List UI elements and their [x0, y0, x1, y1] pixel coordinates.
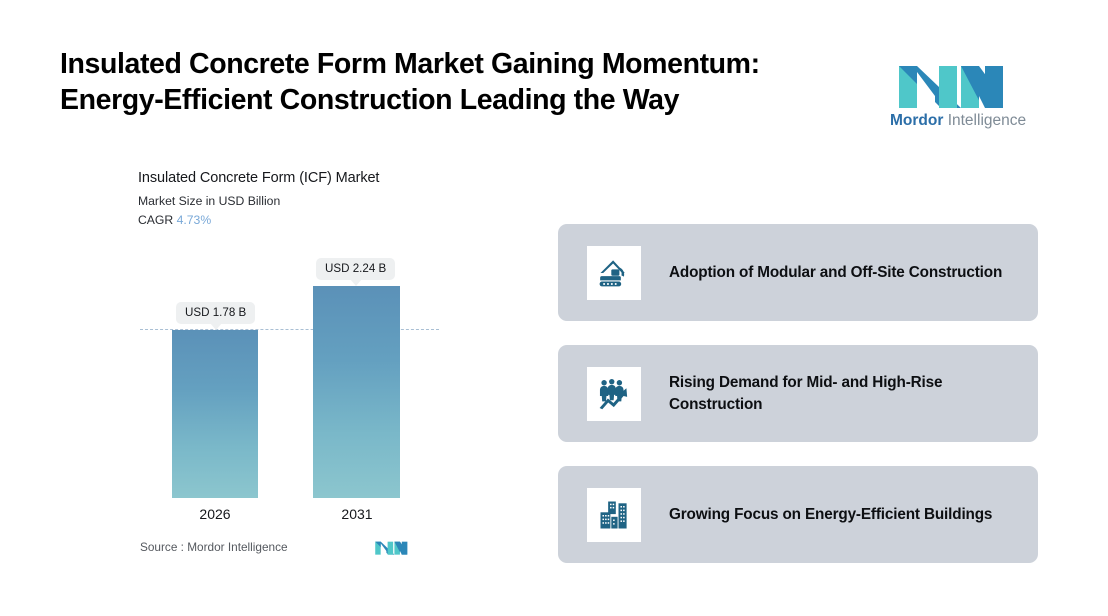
mordor-intelligence-logo-mark-small-icon [374, 536, 408, 556]
brand-logo: Mordor Intelligence [890, 52, 1020, 138]
page-title-line-2: Energy-Efficient Construction Leading th… [60, 82, 850, 118]
header: Insulated Concrete Form Market Gaining M… [0, 0, 1108, 160]
insight-card-energy-efficient-buildings[interactable]: Growing Focus on Energy-Efficient Buildi… [558, 466, 1038, 563]
insight-card-label: Adoption of Modular and Off-Site Constru… [669, 262, 1002, 284]
chart-panel: Insulated Concrete Form (ICF) Market Mar… [138, 170, 448, 560]
insight-card-label: Growing Focus on Energy-Efficient Buildi… [669, 504, 992, 526]
bar-chart-plot: USD 1.78 B USD 2.24 B 2026 2031 Source :… [138, 170, 448, 560]
insight-card-label: Rising Demand for Mid- and High-Rise Con… [669, 372, 1022, 416]
excavator-icon [587, 246, 641, 300]
insight-card-modular-construction[interactable]: Adoption of Modular and Off-Site Constru… [558, 224, 1038, 321]
page-title: Insulated Concrete Form Market Gaining M… [60, 46, 850, 118]
brand-word-primary: Mordor [890, 112, 943, 129]
insight-card-high-rise-demand[interactable]: Rising Demand for Mid- and High-Rise Con… [558, 345, 1038, 442]
x-axis-tick-2031: 2031 [302, 506, 412, 522]
bar-value-label-2026: USD 1.78 B [176, 302, 255, 324]
city-buildings-icon [587, 488, 641, 542]
brand-word-secondary: Intelligence [948, 112, 1026, 129]
brand-wordmark: Mordor Intelligence [890, 112, 1020, 130]
chart-source-text: Source : Mordor Intelligence [140, 540, 288, 554]
bar-value-label-2031: USD 2.24 B [316, 258, 395, 280]
page-title-line-1: Insulated Concrete Form Market Gaining M… [60, 46, 850, 82]
people-growth-arrow-icon [587, 367, 641, 421]
bar-2031 [313, 286, 400, 498]
mordor-intelligence-logo-mark-icon [895, 52, 1005, 108]
x-axis-tick-2026: 2026 [160, 506, 270, 522]
insights-card-list: Adoption of Modular and Off-Site Constru… [558, 224, 1038, 587]
bar-2026 [172, 330, 258, 498]
